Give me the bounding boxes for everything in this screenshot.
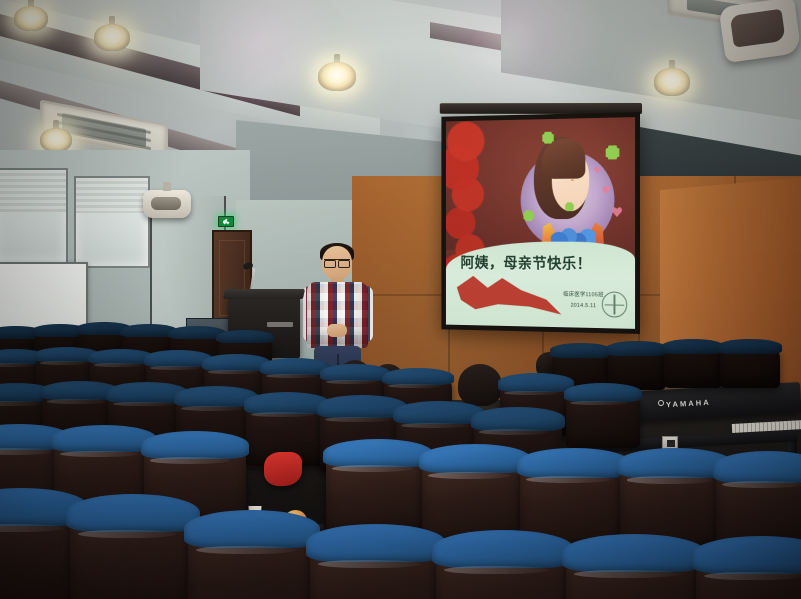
running-man-icon: [223, 219, 230, 225]
track-light-5: [654, 68, 690, 96]
wall-speaker: [718, 0, 801, 63]
window-blind: [0, 170, 66, 212]
audience-head: [458, 364, 502, 406]
seat[interactable]: [436, 548, 570, 599]
window-blind-2: [76, 178, 148, 213]
seat[interactable]: [566, 552, 702, 599]
projector-lens: [151, 197, 181, 210]
seat[interactable]: [664, 346, 722, 388]
track-light-2: [94, 24, 130, 51]
slide-headline: 阿姨，母亲节快乐！: [460, 252, 623, 274]
slide-credit-class: 临床医学1105班: [563, 290, 604, 301]
exit-sign: [218, 216, 234, 227]
presenter-hands: [327, 324, 347, 337]
red-bag[interactable]: [264, 452, 302, 486]
seat[interactable]: [70, 512, 196, 599]
track-light-3: [318, 62, 356, 91]
projection-screen: 阿姨，母亲节快乐！ 临床医学1105班 2014.5.11: [441, 112, 640, 334]
seat[interactable]: [720, 346, 780, 388]
seat[interactable]: [566, 392, 640, 448]
track-light-1: [14, 6, 48, 31]
hair-front: [543, 138, 585, 179]
lecture-hall-photo: 阿姨，母亲节快乐！ 临床医学1105班 2014.5.11: [0, 0, 801, 599]
slide-credit-date: 2014.5.11: [563, 300, 604, 311]
clover-icon-1: [542, 131, 553, 143]
clover-icon-2: [606, 145, 620, 159]
clover-icon-4: [565, 202, 574, 211]
ceiling-projector: [143, 190, 191, 218]
presentation-slide: 阿姨，母亲节快乐！ 临床医学1105班 2014.5.11: [446, 117, 635, 329]
seat[interactable]: [696, 554, 801, 599]
speaker-grille: [730, 9, 786, 48]
seat[interactable]: [188, 528, 316, 599]
seat[interactable]: [326, 452, 430, 536]
glasses-icon: [324, 259, 350, 265]
clover-icon-3: [523, 211, 533, 222]
seat[interactable]: [310, 542, 442, 599]
slide-credit-block: 临床医学1105班 2014.5.11: [563, 290, 604, 311]
whiteboard: [0, 262, 88, 334]
presenter-plaid-shirt: [307, 282, 368, 348]
window-with-blinds-right: [74, 176, 150, 268]
track-light-4: [40, 128, 72, 152]
window-with-blinds-left: [0, 168, 68, 264]
